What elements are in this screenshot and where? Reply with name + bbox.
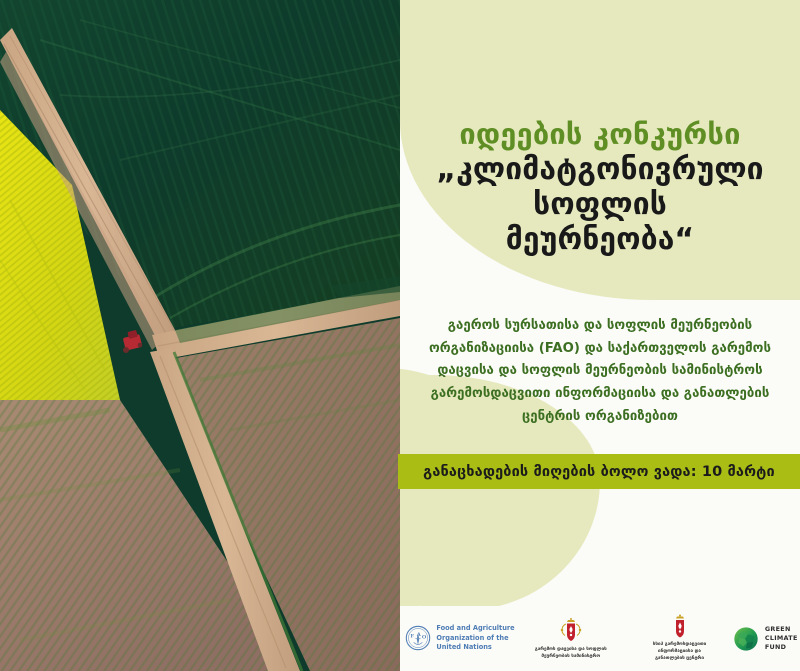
content-panel: იდეების კონკურსი „კლიმატგონივრული სოფლის… xyxy=(400,0,800,671)
center-label: სსიპ გარემოსდაცვითი ინფორმაციისა და განა… xyxy=(653,642,706,663)
georgia-coat-of-arms-icon xyxy=(669,614,691,640)
center-label-line-1: სსიპ გარემოსდაცვითი xyxy=(653,642,706,649)
headline-line-3: სოფლის xyxy=(408,187,792,222)
logo-environmental-center: სსიპ გარემოსდაცვითი ინფორმაციისა და განა… xyxy=(630,614,730,663)
fao-label: Food and Agriculture Organization of the… xyxy=(436,624,514,653)
center-label-line-2: ინფორმაციისა და xyxy=(653,649,706,656)
photo-illustration xyxy=(0,0,400,671)
center-label-line-3: განათლების ცენტრი xyxy=(653,656,706,663)
logo-ministry: გარემოს დაცვისა და სოფლის მეურნეობის სამ… xyxy=(512,617,630,661)
body-line-1: გაეროს სურსათისა და სოფლის მეურნეობის xyxy=(414,315,786,338)
georgia-coat-of-arms-icon xyxy=(556,617,586,645)
poster-root: იდეების კონკურსი „კლიმატგონივრული სოფლის… xyxy=(0,0,800,671)
ministry-label-line-2: მეურნეობის სამინისტრო xyxy=(535,654,607,661)
ministry-label-line-1: გარემოს დაცვისა და სოფლის xyxy=(535,647,607,654)
green-globe-icon xyxy=(732,625,760,653)
svg-text:O: O xyxy=(422,635,427,641)
logo-strip: F A O Food and Agriculture Organization … xyxy=(400,606,800,671)
organizers-paragraph: გაეროს სურსათისა და სოფლის მეურნეობის ორ… xyxy=(414,315,786,429)
fao-emblem-icon: F A O xyxy=(405,625,431,651)
body-line-5: ცენტრის ორგანიზებით xyxy=(414,406,786,429)
gcf-label: GREEN CLIMATE FUND xyxy=(765,625,798,652)
deadline-banner: განაცხადების მიღების ბოლო ვადა: 10 მარტი xyxy=(398,454,800,489)
logo-green-climate-fund: GREEN CLIMATE FUND xyxy=(729,625,800,653)
svg-text:F: F xyxy=(411,634,415,640)
body-line-2: ორგანიზაციისა (FAO) და საქართველოს გარემ… xyxy=(414,338,786,361)
aerial-farmland-photo xyxy=(0,0,400,671)
headline-line-1: იდეების კონკურსი xyxy=(408,118,792,152)
headline-line-4: მეურნეობა“ xyxy=(408,222,792,257)
deadline-text: განაცხადების მიღების ბოლო ვადა: 10 მარტი xyxy=(423,464,775,480)
body-line-4: გარემოსდაცვითი ინფორმაციისა და განათლები… xyxy=(414,383,786,406)
gcf-label-line-1: GREEN xyxy=(765,625,798,634)
body-line-3: დაცვისა და სოფლის მეურნეობის სამინისტროს xyxy=(414,360,786,383)
poster-headline: იდეების კონკურსი „კლიმატგონივრული სოფლის… xyxy=(408,118,792,257)
gcf-label-line-3: FUND xyxy=(765,643,798,652)
ministry-label: გარემოს დაცვისა და სოფლის მეურნეობის სამ… xyxy=(535,647,607,661)
fao-label-line-2: Organization of the xyxy=(436,634,514,644)
gcf-label-line-2: CLIMATE xyxy=(765,634,798,643)
fao-label-line-1: Food and Agriculture xyxy=(436,624,514,634)
logo-fao: F A O Food and Agriculture Organization … xyxy=(408,624,512,653)
headline-line-2: „კლიმატგონივრული xyxy=(408,152,792,187)
fao-label-line-3: United Nations xyxy=(436,643,514,653)
